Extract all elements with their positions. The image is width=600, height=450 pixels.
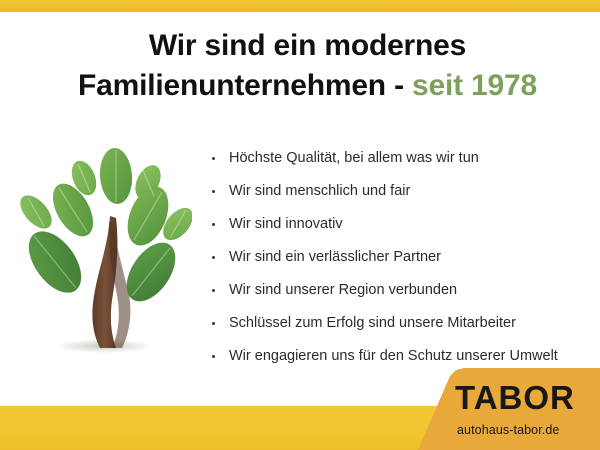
- list-item-label: Wir sind unserer Region verbunden: [229, 282, 457, 298]
- headline-line-2-main: Familienunternehmen -: [78, 69, 412, 102]
- list-item: Wir sind unserer Region verbunden: [208, 274, 598, 307]
- bullet-dot-icon: [212, 289, 215, 292]
- tree-icon: [12, 138, 192, 362]
- list-item: Wir sind innovativ: [208, 208, 598, 241]
- list-item-label: Wir sind menschlich und fair: [229, 183, 410, 199]
- headline-line-1: Wir sind ein modernes: [149, 29, 466, 62]
- bullet-dot-icon: [212, 157, 215, 160]
- bullet-dot-icon: [212, 355, 215, 358]
- list-item-label: Höchste Qualität, bei allem was wir tun: [229, 150, 479, 166]
- list-item: Wir sind menschlich und fair: [208, 175, 598, 208]
- headline-line-2: Familienunternehmen - seit 1978: [30, 66, 585, 106]
- page-title: Wir sind ein modernes Familienunternehme…: [30, 26, 585, 106]
- list-item-label: Wir sind ein verlässlicher Partner: [229, 249, 441, 265]
- bullet-dot-icon: [212, 256, 215, 259]
- tree-illustration: [12, 138, 192, 362]
- bullet-dot-icon: [212, 223, 215, 226]
- list-item-label: Wir sind innovativ: [229, 216, 343, 232]
- benefits-list: Höchste Qualität, bei allem was wir tun …: [208, 142, 598, 373]
- list-item: Höchste Qualität, bei allem was wir tun: [208, 142, 598, 175]
- bullet-dot-icon: [212, 322, 215, 325]
- list-item-label: Wir engagieren uns für den Schutz unsere…: [229, 348, 558, 364]
- top-gold-bar: [0, 0, 600, 12]
- slide-canvas: Wir sind ein modernes Familienunternehme…: [0, 0, 600, 450]
- brand-website-url[interactable]: autohaus-tabor.de: [457, 424, 597, 437]
- list-item: Schlüssel zum Erfolg sind unsere Mitarbe…: [208, 307, 598, 340]
- brand-logo-wordmark[interactable]: TABOR: [455, 381, 595, 414]
- headline-accent-year: seit 1978: [412, 69, 537, 102]
- list-item-label: Schlüssel zum Erfolg sind unsere Mitarbe…: [229, 315, 516, 331]
- bullet-dot-icon: [212, 190, 215, 193]
- list-item: Wir sind ein verlässlicher Partner: [208, 241, 598, 274]
